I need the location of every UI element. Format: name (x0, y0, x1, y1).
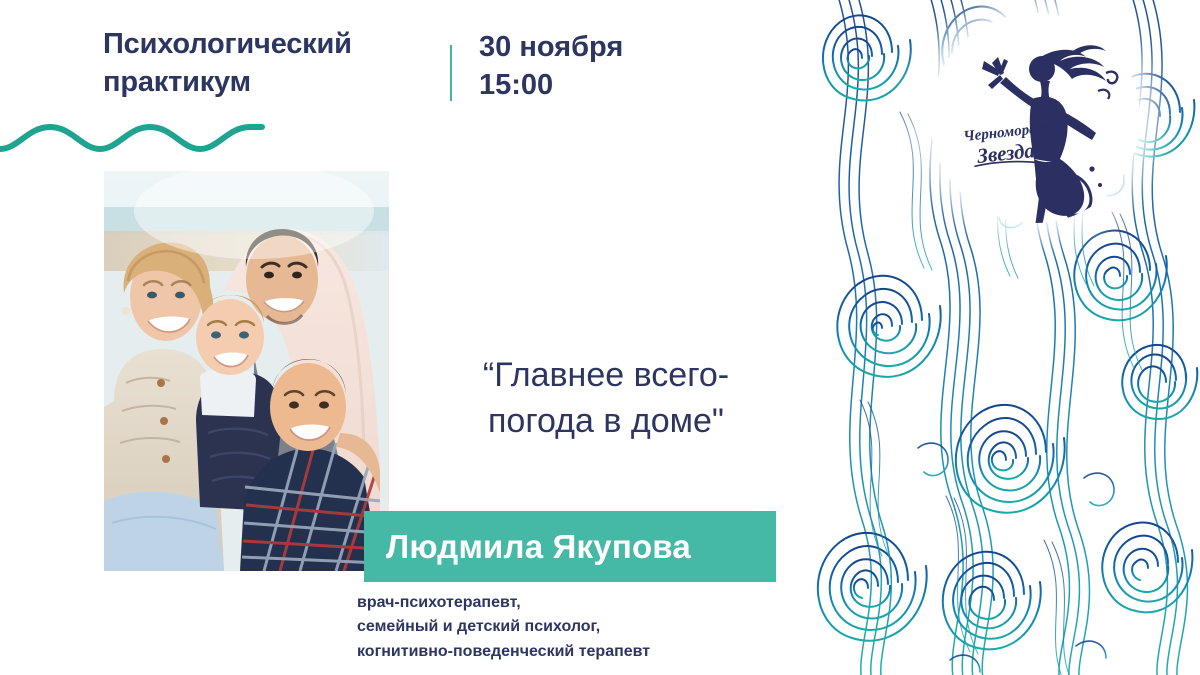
chernomorskaya-zvezda-logo-icon: Черноморская Звезда (930, 13, 1140, 223)
event-datetime: 30 ноября 15:00 (479, 29, 623, 104)
event-quote: “Главнее всего- погода в доме" (420, 352, 792, 444)
speaker-name: Людмила Якупова (386, 528, 691, 566)
speaker-credentials: врач-психотерапевт, семейный и детский п… (357, 591, 787, 664)
family-photo-image (104, 171, 389, 571)
page-title: Психологический практикум (103, 26, 433, 101)
wave-icon (0, 117, 268, 163)
speaker-banner: Людмила Якупова (364, 511, 776, 582)
poster-canvas: Психологический практикум 30 ноября 15:0… (0, 0, 1200, 675)
header-divider (450, 45, 452, 101)
green-wave-decoration (0, 117, 268, 163)
family-photo (104, 171, 389, 571)
header: Психологический практикум 30 ноября 15:0… (103, 26, 803, 126)
logo-medallion: Черноморская Звезда (930, 13, 1140, 223)
